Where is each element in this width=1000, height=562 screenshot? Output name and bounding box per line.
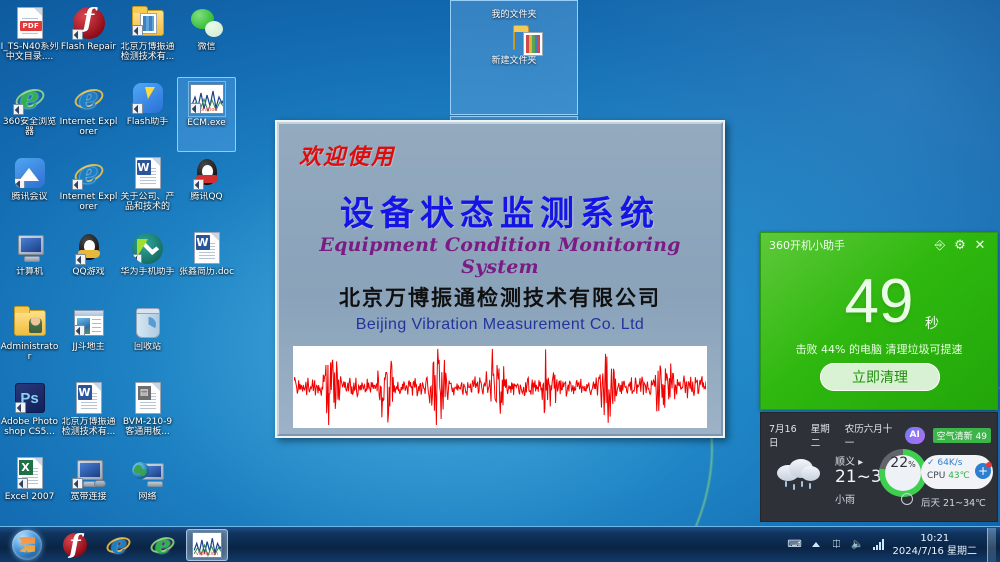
desktop[interactable]: PDF I_TS-N40系列中文目录.... Flash Repair 北京万博…	[0, 0, 1000, 562]
desktop-icon-internet-explorer-2[interactable]: e Internet Explorer	[59, 152, 118, 227]
document-icon: ▤	[130, 381, 166, 415]
shirt-icon[interactable]: ⎆	[931, 236, 949, 254]
show-hidden-icons-icon[interactable]	[809, 538, 823, 552]
desktop-icon-label: ECM.exe	[178, 118, 236, 128]
internet-explorer-taskbar-button[interactable]: e	[98, 529, 140, 561]
desktop-icon-computer[interactable]: 计算机	[0, 227, 59, 302]
desktop-icon-company-intro-doc[interactable]: W 关于公司、产品和技术的介...	[118, 152, 177, 227]
desktop-icon-label: 张鑫简历.doc	[178, 267, 236, 277]
keyboard-icon[interactable]: ⌨	[788, 538, 802, 552]
weather-weekday: 星期二	[811, 421, 837, 449]
desktop-icon-internet-explorer[interactable]: e Internet Explorer	[59, 77, 118, 152]
splash-title-chinese: 设备状态监测系统	[279, 186, 721, 235]
desktop-icon-label: Flash助手	[119, 117, 177, 127]
broadband-connection-icon	[71, 456, 107, 490]
desktop-icon-bvm-folder[interactable]: 北京万博振通检测技术有...	[118, 2, 177, 77]
internet-explorer-icon: e	[71, 156, 107, 190]
splash-inner: 欢迎使用 设备状态监测系统 Equipment Condition Monito…	[277, 122, 723, 436]
start-button[interactable]	[2, 528, 52, 562]
word-document-icon: W	[130, 156, 166, 190]
360-boot-assistant-widget[interactable]: 360开机小助手 ⎆ ⚙ ✕ 49 秒 击败 44% 的电脑 清理垃圾可提速 立…	[760, 232, 998, 410]
splash-company-english: Beijing Vibration Measurement Co. Ltd	[279, 316, 721, 334]
desktop-icon-wechat[interactable]: 微信	[177, 2, 236, 77]
360-boot-seconds-value: 49	[761, 271, 997, 333]
360-browser-icon: e	[150, 532, 176, 558]
tencent-meeting-icon	[12, 156, 48, 190]
system-tray[interactable]: ⌨ ⎅ 🔈 10:21 2024/7/16 星期二	[788, 527, 1000, 562]
weather-condition: 小雨	[835, 491, 855, 506]
photoshop-icon	[12, 381, 48, 415]
desktop-icon-label: 腾讯QQ	[178, 192, 236, 202]
folder-icon	[130, 6, 166, 40]
desktop-icon-broadband-connection[interactable]: 宽带连接	[59, 452, 118, 527]
desktop-icon-empty-slot-2	[177, 377, 236, 452]
desktop-icon-jj-game[interactable]: JJ斗地主	[59, 302, 118, 377]
vibration-waveform-chart	[293, 346, 707, 428]
clock-time: 10:21	[893, 532, 977, 545]
desktop-icon-photoshop[interactable]: Adobe Photoshop CS5...	[0, 377, 59, 452]
weather-date: 7月16日	[769, 421, 803, 449]
splash-title-english: Equipment Condition Monitoring System	[279, 234, 721, 278]
word-document-icon: W	[71, 381, 107, 415]
rain-cloud-icon	[775, 457, 823, 489]
desktop-icon-label: 微信	[178, 42, 236, 52]
huawei-assistant-icon	[130, 231, 166, 265]
weather-forecast: 后天 21~34℃	[921, 495, 986, 509]
desktop-icon-label: 北京万博振通检测技术有...	[119, 42, 177, 62]
volume-icon[interactable]: 🔈	[851, 538, 865, 552]
word-document-icon: W	[189, 231, 225, 265]
show-desktop-button[interactable]	[987, 528, 996, 562]
flash-icon	[63, 533, 87, 557]
flash-taskbar-button[interactable]	[54, 529, 96, 561]
taskbar-clock[interactable]: 10:21 2024/7/16 星期二	[893, 532, 977, 558]
qq-icon	[189, 156, 225, 190]
excel-icon: X	[12, 456, 48, 490]
desktop-icon-label: BVM-210-9客通用板...	[119, 417, 177, 437]
desktop-icon-label: 腾讯会议	[1, 192, 59, 202]
desktop-icon-grid: PDF I_TS-N40系列中文目录.... Flash Repair 北京万博…	[0, 2, 236, 527]
desktop-icon-label: 北京万博振通检测技术有...	[60, 417, 118, 437]
desktop-icon-ecm-exe[interactable]: vibration ECM.exe	[177, 77, 236, 152]
computer-icon	[12, 231, 48, 265]
desktop-icon-label: Excel 2007	[1, 492, 59, 502]
network-icon[interactable]	[872, 538, 886, 552]
qq-game-icon	[71, 231, 107, 265]
desktop-icon-label: 宽带连接	[60, 492, 118, 502]
empty-icon	[189, 306, 225, 340]
desktop-icon-360-browser[interactable]: e 360安全浏览器	[0, 77, 59, 152]
cpu-temp-value: 43℃	[948, 471, 970, 481]
air-quality-badge: 空气清新 49	[933, 428, 991, 443]
ai-badge[interactable]: AI	[905, 427, 925, 444]
empty-icon	[189, 381, 225, 415]
desktop-icon-label: 关于公司、产品和技术的介...	[119, 192, 177, 212]
desktop-icon-label: 华为手机助手	[119, 267, 177, 277]
taskbar[interactable]: e e vibration ⌨ ⎅ 🔈	[0, 526, 1000, 562]
desktop-icon-label: Adobe Photoshop CS5...	[1, 417, 59, 437]
folder-panel-title: 我的文件夹	[491, 7, 536, 20]
splash-company-chinese: 北京万博振通检测技术有限公司	[279, 282, 721, 312]
user-folder-icon	[12, 306, 48, 340]
add-widget-button[interactable]: +	[975, 463, 991, 479]
desktop-icon-label: Administrator	[1, 342, 59, 362]
ecm-taskbar-button[interactable]: vibration	[186, 529, 228, 561]
ecm-app-icon: vibration	[189, 82, 225, 116]
weather-system-widget[interactable]: 7月16日 星期二 农历六月十一 AI 空气清新 49 顺义 ▸ 21~31 小…	[760, 412, 998, 522]
desktop-icon-flash-repair[interactable]: Flash Repair	[59, 2, 118, 77]
flash-helper-icon	[130, 81, 166, 115]
desktop-icon-label: Internet Explorer	[60, 192, 118, 212]
cpu-temp-label: CPU	[927, 471, 945, 481]
desktop-icon-label: Flash Repair	[60, 42, 118, 52]
recycle-bin-icon	[130, 306, 166, 340]
jj-game-icon	[71, 306, 107, 340]
desktop-icon-label: I_TS-N40系列中文目录....	[1, 42, 59, 62]
humidity-value: 22	[890, 455, 908, 471]
desktop-icon-recycle-bin[interactable]: 回收站	[118, 302, 177, 377]
waveform-svg	[294, 347, 706, 427]
360-widget-titlebar: 360开机小助手 ⎆ ⚙ ✕	[761, 233, 997, 257]
360-browser-icon: e	[12, 81, 48, 115]
desktop-icon-pdf-catalog[interactable]: PDF I_TS-N40系列中文目录....	[0, 2, 59, 77]
ecm-splash-window[interactable]: 欢迎使用 设备状态监测系统 Equipment Condition Monito…	[275, 120, 725, 438]
desktop-icon-excel-2007[interactable]: X Excel 2007	[0, 452, 59, 527]
humidity-unit: %	[908, 460, 916, 469]
flash-icon	[71, 6, 107, 40]
weather-date-row: 7月16日 星期二 农历六月十一 AI 空气清新 49	[769, 421, 991, 449]
360-widget-subtitle: 击败 44% 的电脑 清理垃圾可提速	[761, 341, 997, 357]
pdf-document-icon: PDF	[12, 6, 48, 40]
wechat-icon	[189, 6, 225, 40]
weather-lunar-date: 农历六月十一	[845, 421, 897, 449]
internet-explorer-icon: e	[71, 81, 107, 115]
desktop-icon-huawei-assistant[interactable]: 华为手机助手	[118, 227, 177, 302]
desktop-icon-label: 计算机	[1, 267, 59, 277]
close-icon[interactable]: ✕	[971, 236, 989, 254]
humidity-gauge: 22%	[879, 449, 927, 497]
desktop-icon-bvm-210-doc[interactable]: ▤ BVM-210-9客通用板...	[118, 377, 177, 452]
splash-welcome-text: 欢迎使用	[299, 139, 395, 171]
desktop-icon-label: 网络	[119, 492, 177, 502]
selected-folder-panel[interactable]: 我的文件夹 新建文件夹	[450, 0, 578, 115]
360-browser-taskbar-button[interactable]: e	[142, 529, 184, 561]
clock-date: 2024/7/16 星期二	[893, 545, 977, 558]
gear-icon[interactable]: ⚙	[951, 236, 969, 254]
desktop-icon-label: 回收站	[119, 342, 177, 352]
desktop-icon-label: Internet Explorer	[60, 117, 118, 137]
safely-remove-icon[interactable]: ⎅	[830, 538, 844, 552]
forecast-bulb-icon	[901, 493, 913, 505]
network-speed-value: 64K/s	[937, 458, 962, 468]
desktop-icon-empty-slot-1	[177, 302, 236, 377]
360-widget-title: 360开机小助手	[769, 237, 845, 253]
windows-start-orb-icon	[12, 530, 42, 560]
ecm-app-icon: vibration	[192, 532, 222, 558]
network-icon	[130, 456, 166, 490]
folder-icon	[513, 30, 515, 49]
desktop-icon-bvm-doc[interactable]: W 北京万博振通检测技术有...	[59, 377, 118, 452]
desktop-icon-administrator[interactable]: Administrator	[0, 302, 59, 377]
weather-city[interactable]: 顺义 ▸	[835, 453, 863, 468]
desktop-icon-label: 360安全浏览器	[1, 117, 59, 137]
internet-explorer-icon: e	[106, 532, 132, 558]
desktop-icon-tencent-meeting[interactable]: 腾讯会议	[0, 152, 59, 227]
desktop-icon-resume-doc[interactable]: W 张鑫简历.doc	[177, 227, 236, 302]
desktop-icon-flash-helper[interactable]: Flash助手	[118, 77, 177, 152]
360-boot-seconds-unit: 秒	[925, 313, 939, 333]
desktop-icon-label: JJ斗地主	[60, 342, 118, 352]
clean-now-button[interactable]: 立即清理	[820, 363, 940, 391]
desktop-icon-network[interactable]: 网络	[118, 452, 177, 527]
desktop-icon-label: QQ游戏	[60, 267, 118, 277]
desktop-icon-tencent-qq[interactable]: 腾讯QQ	[177, 152, 236, 227]
desktop-icon-qq-game[interactable]: QQ游戏	[59, 227, 118, 302]
